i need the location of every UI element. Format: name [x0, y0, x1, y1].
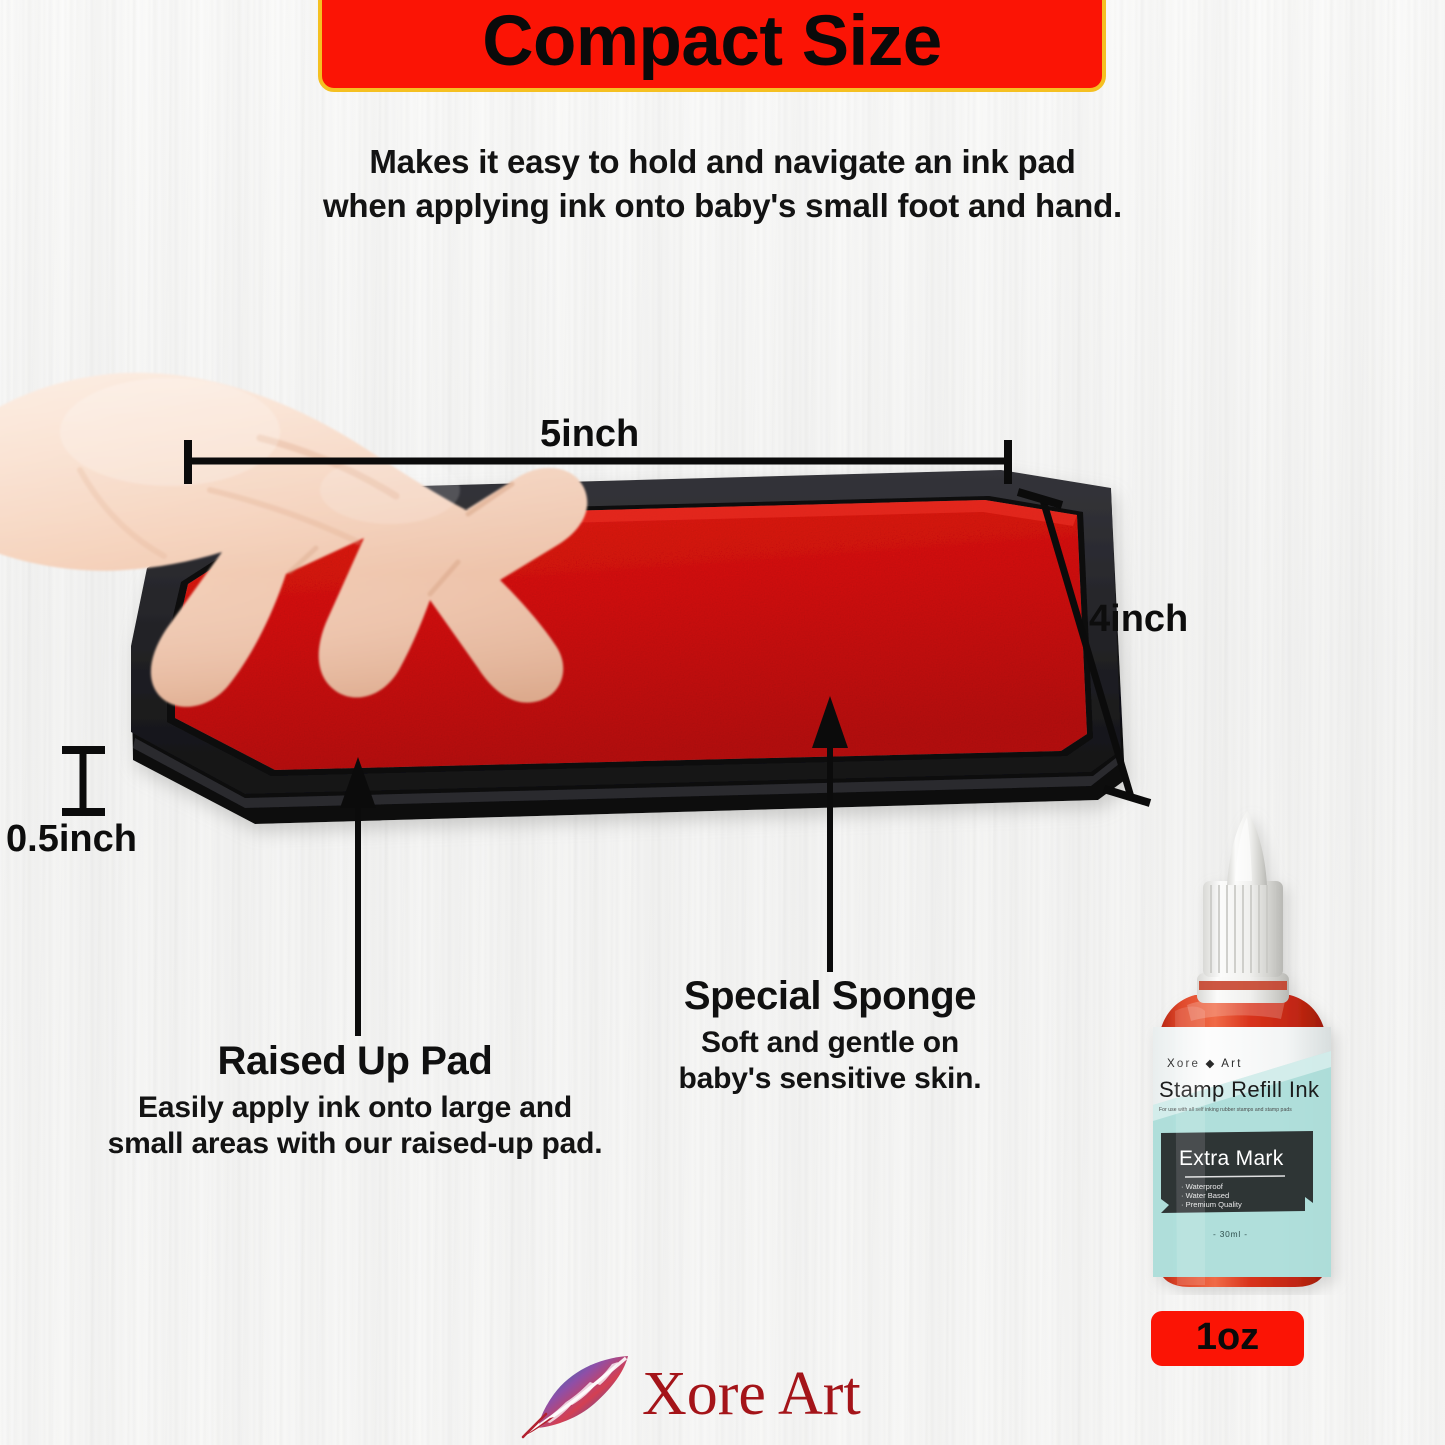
stamp-refill-ink-bottle: Xore ◆ Art Stamp Refill Ink For use with…	[1135, 805, 1350, 1295]
feather-quill-icon	[520, 1352, 640, 1442]
subheading-line-1: Makes it easy to hold and navigate an in…	[0, 140, 1445, 184]
subheading: Makes it easy to hold and navigate an in…	[0, 140, 1445, 228]
subheading-line-2: when applying ink onto baby's small foot…	[0, 184, 1445, 228]
label-volume: - 30ml -	[1213, 1229, 1248, 1239]
callout-title: Raised Up Pad	[60, 1040, 650, 1082]
callout-body-line-2: small areas with our raised-up pad.	[60, 1126, 650, 1162]
callout-body-line-1: Soft and gentle on	[625, 1025, 1035, 1061]
brand-name: Xore Art	[642, 1363, 861, 1431]
bottle-collar-band	[1199, 981, 1287, 990]
callout-raised-up-pad: Raised Up Pad Easily apply ink onto larg…	[60, 1040, 650, 1162]
banner-title: Compact Size	[482, 0, 942, 77]
dimension-label-height: 0.5inch	[6, 820, 137, 858]
dimension-label-width: 5inch	[540, 415, 639, 453]
callout-title: Special Sponge	[625, 975, 1035, 1017]
ink-pad-body	[131, 470, 1125, 824]
callout-body-line-2: baby's sensitive skin.	[625, 1061, 1035, 1097]
callout-body-line-1: Easily apply ink onto large and	[60, 1090, 650, 1126]
brand-logo: Xore Art	[520, 1352, 960, 1442]
infographic-canvas: Compact Size Makes it easy to hold and n…	[0, 0, 1445, 1445]
compact-size-banner: Compact Size	[318, 0, 1106, 92]
volume-badge-1oz: 1oz	[1151, 1311, 1304, 1366]
volume-badge-label: 1oz	[1196, 1318, 1259, 1359]
ink-pad-product	[95, 450, 1155, 850]
pad-sponge	[175, 500, 1087, 770]
callout-special-sponge: Special Sponge Soft and gentle on baby's…	[625, 975, 1035, 1097]
callout-body: Easily apply ink onto large and small ar…	[60, 1090, 650, 1162]
dimension-label-depth: 4inch	[1089, 600, 1188, 638]
callout-body: Soft and gentle on baby's sensitive skin…	[625, 1025, 1035, 1097]
bottle-sheen	[1175, 1007, 1205, 1286]
